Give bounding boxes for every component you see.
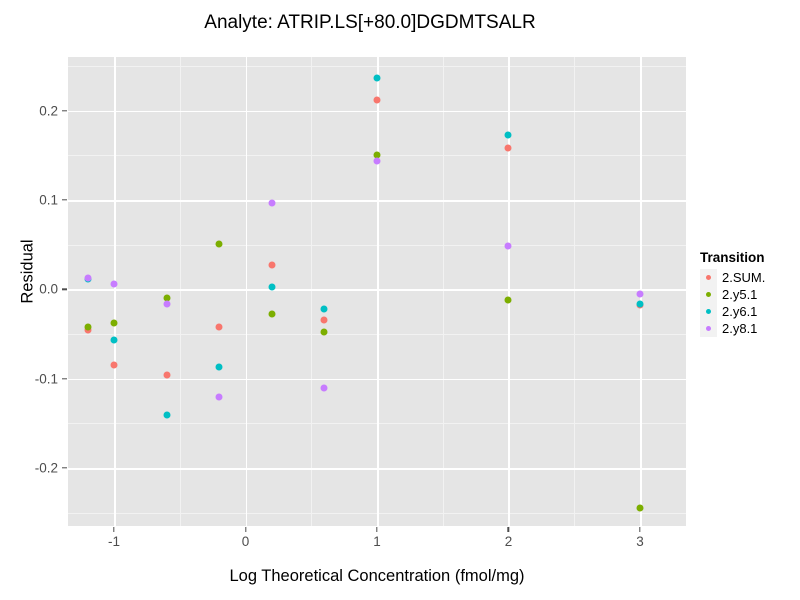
legend-item-2-y5-1[interactable]: 2.y5.1 — [700, 286, 800, 303]
y-axis-tick-label: -0.2 — [12, 460, 58, 475]
gridline-vertical-minor — [180, 57, 181, 526]
y-axis-tick-mark — [62, 289, 67, 290]
data-point — [216, 240, 223, 247]
legend-title: Transition — [700, 250, 800, 265]
data-point — [216, 363, 223, 370]
x-axis-tick-label: -1 — [84, 534, 144, 549]
data-point — [111, 362, 118, 369]
data-point — [111, 337, 118, 344]
data-point — [163, 372, 170, 379]
data-point — [268, 262, 275, 269]
gridline-vertical-major — [114, 57, 116, 526]
plot-panel — [68, 57, 686, 526]
gridline-vertical-minor — [574, 57, 575, 526]
gridline-vertical-major — [508, 57, 510, 526]
data-point — [216, 323, 223, 330]
page-title: Analyte: ATRIP.LS[+80.0]DGDMTSALR — [0, 12, 740, 34]
data-point — [321, 305, 328, 312]
data-point — [505, 243, 512, 250]
legend: Transition 2.SUM.2.y5.12.y6.12.y8.1 — [700, 250, 800, 337]
legend-key-swatch — [700, 269, 717, 286]
y-axis-tick-mark — [62, 378, 67, 379]
x-axis-tick-label: 1 — [347, 534, 407, 549]
data-point — [84, 274, 91, 281]
legend-key-swatch — [700, 303, 717, 320]
legend-color-dot — [706, 292, 711, 297]
data-point — [163, 300, 170, 307]
data-point — [321, 316, 328, 323]
data-point — [505, 296, 512, 303]
data-point — [321, 384, 328, 391]
x-axis-tick-label: 2 — [478, 534, 538, 549]
legend-color-dot — [706, 275, 711, 280]
gridline-vertical-minor — [311, 57, 312, 526]
legend-item-label: 2.y5.1 — [722, 287, 757, 302]
data-point — [163, 412, 170, 419]
legend-color-dot — [706, 309, 711, 314]
legend-item-2-y8-1[interactable]: 2.y8.1 — [700, 320, 800, 337]
gridline-vertical-major — [246, 57, 248, 526]
legend-item-label: 2.y8.1 — [722, 321, 757, 336]
y-axis-tick-mark — [62, 110, 67, 111]
x-axis-tick-mark — [113, 527, 114, 532]
legend-color-dot — [706, 326, 711, 331]
data-point — [636, 290, 643, 297]
x-axis-tick-label: 3 — [610, 534, 670, 549]
data-point — [505, 131, 512, 138]
data-point — [374, 157, 381, 164]
gridline-vertical-minor — [443, 57, 444, 526]
data-point — [636, 301, 643, 308]
y-axis-tick-label: 0.2 — [12, 103, 58, 118]
legend-item-2-y6-1[interactable]: 2.y6.1 — [700, 303, 800, 320]
x-axis-tick-mark — [639, 527, 640, 532]
y-axis-tick-mark — [62, 467, 67, 468]
x-axis-tick-mark — [245, 527, 246, 532]
data-point — [636, 505, 643, 512]
x-axis-tick-mark — [376, 527, 377, 532]
legend-item-label: 2.SUM. — [722, 270, 765, 285]
x-axis-tick-label: 0 — [216, 534, 276, 549]
scatter-plot-figure: Analyte: ATRIP.LS[+80.0]DGDMTSALR 0.20.1… — [0, 0, 800, 600]
x-axis-title: Log Theoretical Concentration (fmol/mg) — [68, 567, 686, 586]
y-axis-tick-label: -0.1 — [12, 371, 58, 386]
legend-item-2-sum[interactable]: 2.SUM. — [700, 269, 800, 286]
y-axis-tick-mark — [62, 199, 67, 200]
x-axis-tick-mark — [508, 527, 509, 532]
legend-key-swatch — [700, 286, 717, 303]
data-point — [111, 280, 118, 287]
data-point — [374, 96, 381, 103]
data-point — [268, 199, 275, 206]
data-point — [268, 311, 275, 318]
y-axis-title: Residual — [19, 192, 38, 352]
data-point — [84, 323, 91, 330]
data-point — [111, 320, 118, 327]
data-point — [505, 145, 512, 152]
gridline-vertical-major — [377, 57, 379, 526]
legend-item-label: 2.y6.1 — [722, 304, 757, 319]
data-point — [321, 329, 328, 336]
legend-key-swatch — [700, 320, 717, 337]
legend-item-list: 2.SUM.2.y5.12.y6.12.y8.1 — [700, 269, 800, 337]
data-point — [216, 394, 223, 401]
data-point — [374, 75, 381, 82]
data-point — [268, 283, 275, 290]
